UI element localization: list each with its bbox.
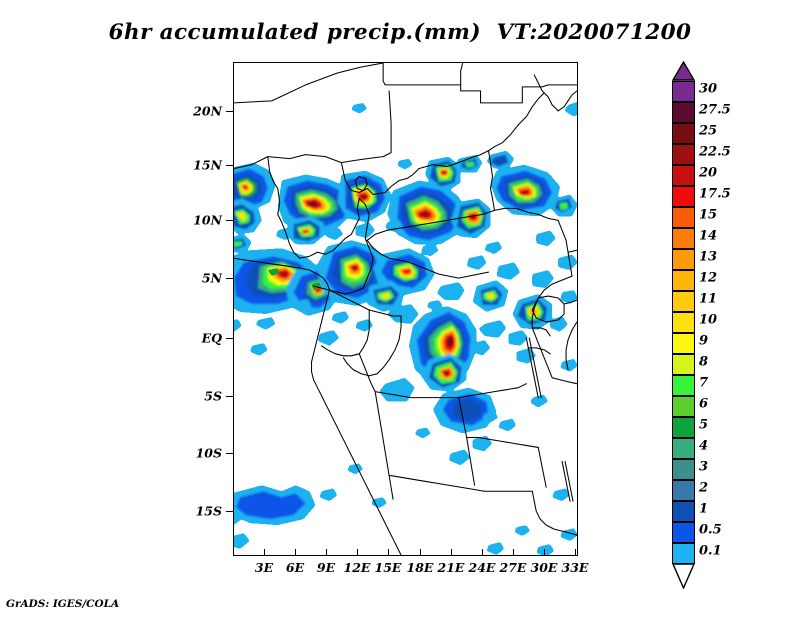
ytick-label-10N: 10N xyxy=(186,213,222,228)
colorbar-swatch-22p5 xyxy=(672,144,695,165)
colorbar-swatch-8 xyxy=(672,354,695,375)
colorbar-label-14: 14 xyxy=(699,229,717,244)
map-boundaries xyxy=(234,63,577,555)
chart-title: 6hr accumulated precip.(mm) VT:202007120… xyxy=(0,20,800,45)
colorbar-top-arrow xyxy=(672,61,695,81)
colorbar-label-30: 30 xyxy=(699,82,717,97)
ytick-label-10S: 10S xyxy=(186,446,222,461)
colorbar-label-25: 25 xyxy=(699,124,717,139)
colorbar-swatch-2 xyxy=(672,480,695,501)
colorbar-swatch-3 xyxy=(672,459,695,480)
ytick-label-20N: 20N xyxy=(186,104,222,119)
colorbar-label-13: 13 xyxy=(699,250,717,265)
colorbar-label-8: 8 xyxy=(699,355,708,370)
colorbar-swatch-15 xyxy=(672,207,695,228)
colorbar-label-5: 5 xyxy=(699,418,708,433)
xtick-mark-6E xyxy=(295,549,296,556)
colorbar-swatch-9 xyxy=(672,333,695,354)
ytick-label-15N: 15N xyxy=(186,158,222,173)
colorbar-swatch-25 xyxy=(672,123,695,144)
xtick-mark-24E xyxy=(482,549,483,556)
ytick-label-5N: 5N xyxy=(186,271,222,286)
xtick-mark-27E xyxy=(513,549,514,556)
colorbar-label-0p1: 0.1 xyxy=(699,544,722,559)
colorbar-swatch-6 xyxy=(672,396,695,417)
ytick-mark-15S xyxy=(226,511,233,512)
colorbar-swatch-12 xyxy=(672,270,695,291)
colorbar-label-15: 15 xyxy=(699,208,717,223)
colorbar-swatch-13 xyxy=(672,249,695,270)
colorbar-label-9: 9 xyxy=(699,334,708,349)
colorbar-label-27p5: 27.5 xyxy=(699,103,731,118)
xtick-mark-21E xyxy=(451,549,452,556)
xtick-mark-3E xyxy=(264,549,265,556)
colorbar: 30 27.5 25 22.5 20 17.5 15 14 13 12 11 1… xyxy=(672,62,695,558)
colorbar-swatch-7 xyxy=(672,375,695,396)
colorbar-swatch-0p1 xyxy=(672,543,695,564)
xtick-mark-12E xyxy=(357,549,358,556)
ytick-mark-5N xyxy=(226,278,233,279)
colorbar-label-0p5: 0.5 xyxy=(699,523,722,538)
xtick-label-33E: 33E xyxy=(555,560,595,575)
xtick-mark-30E xyxy=(544,549,545,556)
colorbar-swatch-14 xyxy=(672,228,695,249)
colorbar-swatch-0p5 xyxy=(672,522,695,543)
colorbar-label-3: 3 xyxy=(699,460,708,475)
colorbar-swatch-27p5 xyxy=(672,102,695,123)
colorbar-swatch-10 xyxy=(672,312,695,333)
ytick-mark-10N xyxy=(226,220,233,221)
colorbar-swatch-20 xyxy=(672,165,695,186)
xtick-mark-33E xyxy=(575,549,576,556)
ytick-mark-15N xyxy=(226,165,233,166)
colorbar-swatch-17p5 xyxy=(672,186,695,207)
colorbar-label-17p5: 17.5 xyxy=(699,187,731,202)
colorbar-label-2: 2 xyxy=(699,481,708,496)
ytick-mark-20N xyxy=(226,111,233,112)
colorbar-bottom-arrow xyxy=(672,563,695,589)
xtick-mark-18E xyxy=(420,549,421,556)
ytick-label-5S: 5S xyxy=(186,389,222,404)
colorbar-label-1: 1 xyxy=(699,502,708,517)
xtick-mark-9E xyxy=(326,549,327,556)
xtick-mark-15E xyxy=(388,549,389,556)
colorbar-label-10: 10 xyxy=(699,313,717,328)
colorbar-swatch-4 xyxy=(672,438,695,459)
colorbar-label-22p5: 22.5 xyxy=(699,145,731,160)
colorbar-label-7: 7 xyxy=(699,376,708,391)
ytick-label-EQ: EQ xyxy=(186,331,222,346)
grads-precip-figure: 6hr accumulated precip.(mm) VT:202007120… xyxy=(0,0,800,618)
colorbar-label-11: 11 xyxy=(699,292,717,307)
colorbar-swatch-11 xyxy=(672,291,695,312)
ytick-mark-EQ xyxy=(226,338,233,339)
ytick-mark-5S xyxy=(226,396,233,397)
map-plot-area xyxy=(233,62,578,556)
colorbar-swatch-1 xyxy=(672,501,695,522)
colorbar-swatch-5 xyxy=(672,417,695,438)
colorbar-label-4: 4 xyxy=(699,439,708,454)
ytick-label-15S: 15S xyxy=(186,504,222,519)
colorbar-label-12: 12 xyxy=(699,271,717,286)
colorbar-label-6: 6 xyxy=(699,397,708,412)
credit-text: GrADS: IGES/COLA xyxy=(6,598,119,610)
colorbar-swatch-30 xyxy=(672,81,695,102)
colorbar-label-20: 20 xyxy=(699,166,717,181)
ytick-mark-10S xyxy=(226,453,233,454)
